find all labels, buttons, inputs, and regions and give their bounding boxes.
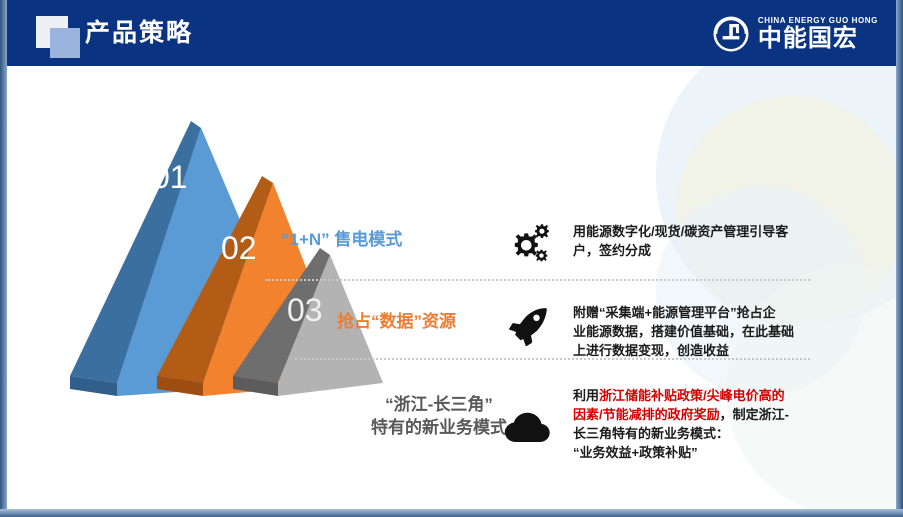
watermark-circle-2 [676,96,896,326]
row-title-03: “浙江-长三角” 特有的新业务模式 [371,393,507,439]
pyramid-number-01: 01 [152,159,188,195]
pyramid-number-02: 02 [221,230,257,266]
row-separator-1 [265,279,810,281]
row3-desc-part-a: 利用 [573,388,599,403]
logo-chinese-text: 中能国宏 [758,26,878,52]
frame-border-bottom [0,509,903,517]
gears-icon [504,223,550,265]
row-separator-2 [295,358,810,360]
logo-mark-icon [711,14,751,54]
row-description-01: 用能源数字化/现货/碳资产管理引导客 户，签约分成 [573,222,841,260]
pyramid-diagram: 01 02 03 [7,66,407,466]
row-title-02: 抢占“数据”资源 [337,310,456,333]
frame-border-left [0,0,7,517]
rocket-icon [505,306,549,346]
logo-english-text: CHINA ENERGY GUO HONG [758,16,878,26]
header-bar: 产品策略 CHINA ENERGY GUO HONG 中能国宏 [7,0,896,66]
company-logo: CHINA ENERGY GUO HONG 中能国宏 [711,13,878,55]
slide-body: 01 02 03 “1+N” 售电模式 [7,66,896,509]
frame-border-right [896,0,903,517]
page-title: 产品策略 [85,17,193,49]
watermark-circle-3 [656,186,866,396]
header-square-blue-icon [50,28,80,58]
watermark-circle-1 [656,66,896,326]
row-description-02: 附赠“采集端+能源管理平台”抢占企 业能源数据，搭建价值基础，在此基础 上进行数… [573,303,841,360]
cloud-icon [505,411,550,444]
pyramid-number-03: 03 [287,292,323,328]
slide-root: 产品策略 CHINA ENERGY GUO HONG 中能国宏 [0,0,903,517]
row-title-01: “1+N” 售电模式 [281,228,402,251]
row-description-03: 利用浙江储能补贴政策/尖峰电价高的 因素/节能减排的政府奖励，制定浙江- 长三角… [573,386,841,462]
